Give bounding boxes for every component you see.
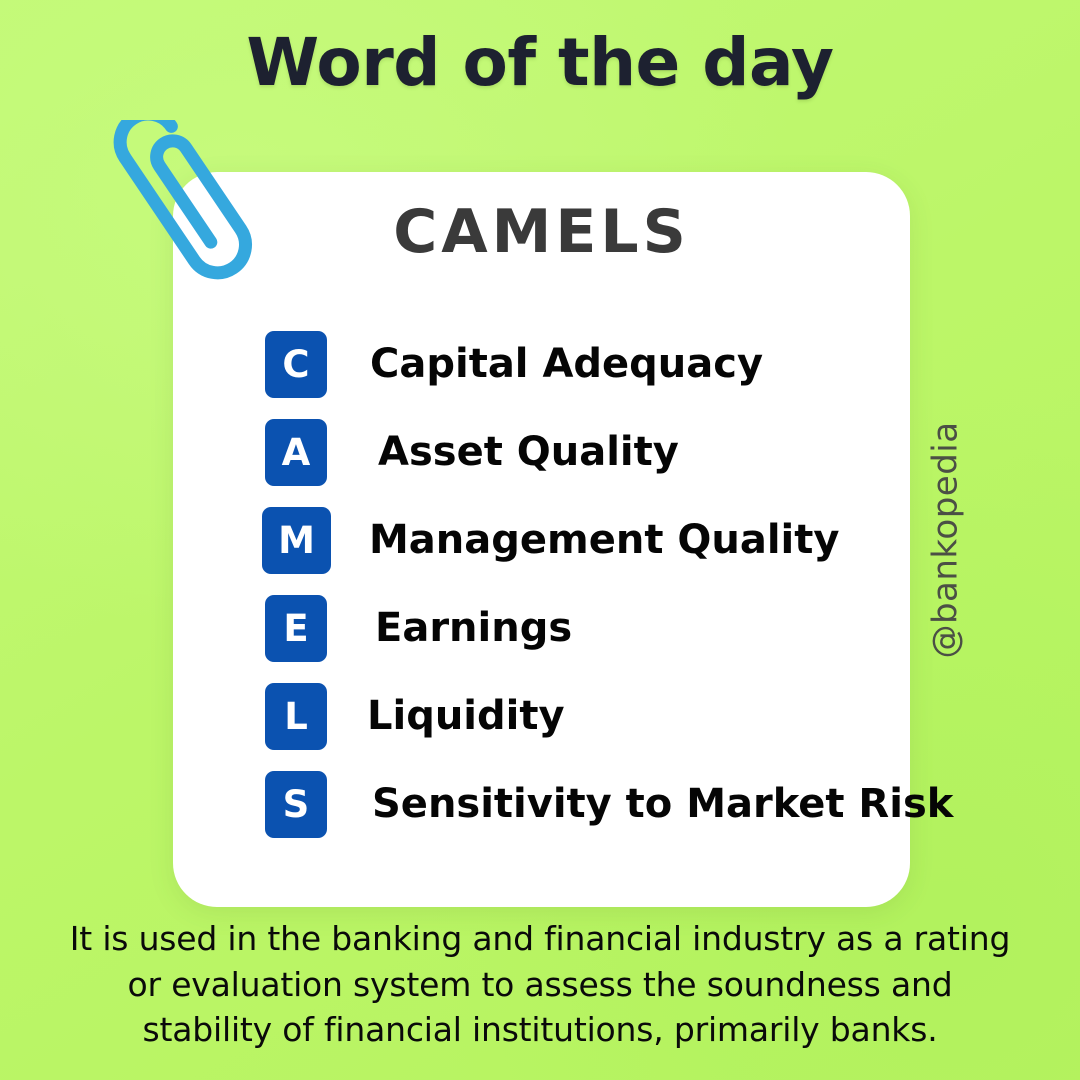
list-item: S Sensitivity to Market Risk [173, 760, 910, 848]
list-item-label: Asset Quality [378, 429, 679, 475]
list-item-label: Capital Adequacy [370, 341, 763, 387]
letter-badge-a: A [265, 419, 327, 486]
letter-badge-l: L [265, 683, 327, 750]
word-card: CAMELS C Capital Adequacy A Asset Qualit… [173, 172, 910, 907]
list-item-label: Earnings [375, 605, 572, 651]
list-item: C Capital Adequacy [173, 320, 910, 408]
card-heading: CAMELS [173, 196, 910, 268]
letter-badge-c: C [265, 331, 327, 398]
list-item-label: Management Quality [369, 517, 839, 563]
list-item-label: Sensitivity to Market Risk [372, 781, 953, 827]
list-item: M Management Quality [173, 496, 910, 584]
caption-text: It is used in the banking and financial … [60, 916, 1020, 1052]
list-item: L Liquidity [173, 672, 910, 760]
letter-badge-s: S [265, 771, 327, 838]
list-item: E Earnings [173, 584, 910, 672]
page-title: Word of the day [0, 26, 1080, 100]
list-item: A Asset Quality [173, 408, 910, 496]
acronym-list: C Capital Adequacy A Asset Quality M Man… [173, 320, 910, 848]
letter-badge-m: M [262, 507, 331, 574]
paperclip-icon [108, 120, 280, 300]
letter-badge-e: E [265, 595, 327, 662]
list-item-label: Liquidity [367, 693, 565, 739]
watermark-handle: @bankopedia [925, 421, 965, 658]
